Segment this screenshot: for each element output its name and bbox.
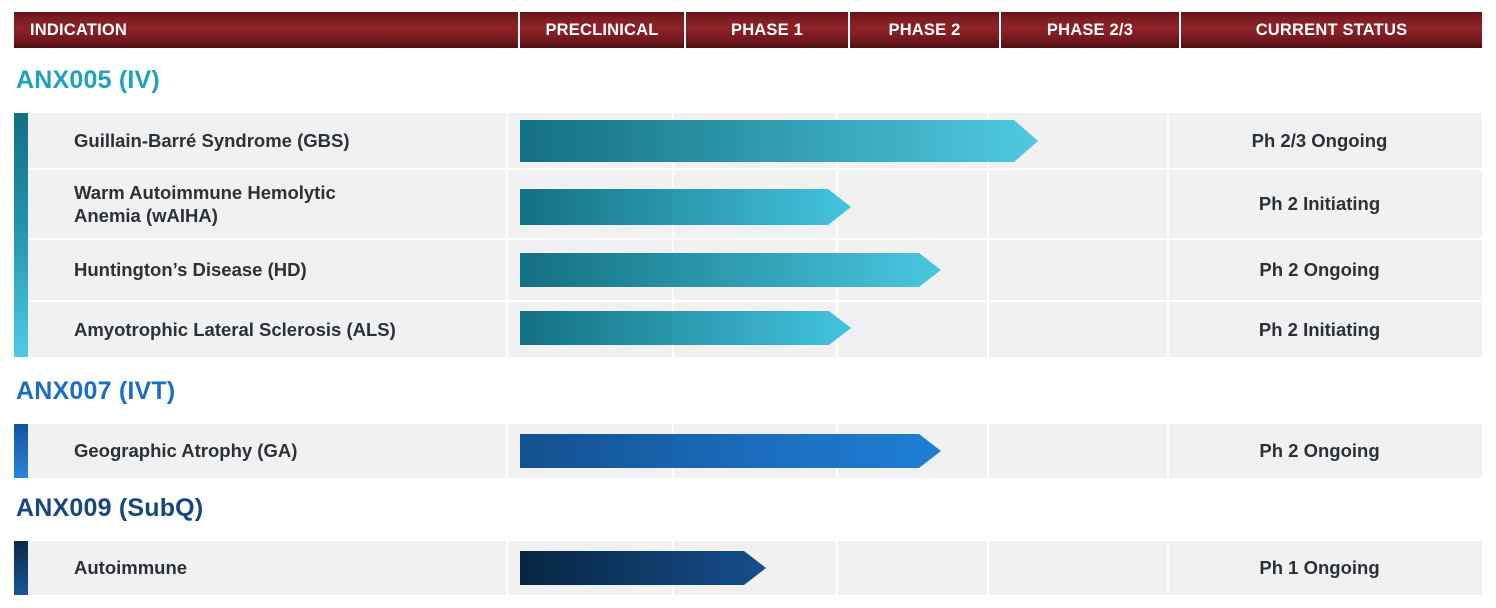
column-header-preclinical: PRECLINICAL	[520, 12, 686, 48]
indication-text: Amyotrophic Lateral Sclerosis (ALS)	[74, 318, 396, 341]
column-divider-phase-2-3	[987, 424, 989, 478]
group-spine-anx007	[14, 424, 28, 478]
indication-text-line-1: Warm Autoimmune Hemolytic	[74, 181, 336, 204]
indication-label-ga: Geographic Atrophy (GA)	[74, 424, 514, 478]
progress-arrow-gbs	[520, 120, 1038, 162]
status-autoimmune: Ph 1 Ongoing	[1169, 541, 1470, 595]
group-title-anx007: ANX007 (IVT)	[16, 377, 175, 406]
pipeline-chart: INDICATION PRECLINICAL PHASE 1 PHASE 2 P…	[0, 0, 1496, 608]
status-waiha: Ph 2 Initiating	[1169, 170, 1470, 238]
indication-text: Geographic Atrophy (GA)	[74, 439, 297, 462]
column-header-phase-2-label: PHASE 2	[888, 21, 960, 40]
status-text: Ph 2 Initiating	[1259, 193, 1380, 215]
status-text: Ph 1 Ongoing	[1259, 557, 1379, 579]
status-als: Ph 2 Initiating	[1169, 302, 1470, 357]
indication-text-line-2: Anemia (wAIHA)	[74, 204, 218, 227]
indication-label-autoimmune: Autoimmune	[74, 541, 514, 595]
group-title-anx005-label: ANX005 (IV)	[16, 66, 160, 94]
column-divider-phase-2-3	[987, 541, 989, 595]
indication-text: Guillain-Barré Syndrome (GBS)	[74, 129, 350, 152]
indication-text: Huntington’s Disease (HD)	[74, 258, 307, 281]
progress-arrow-ga	[520, 434, 941, 468]
column-header-phase-2-3: PHASE 2/3	[1001, 12, 1181, 48]
column-header-phase-2-3-label: PHASE 2/3	[1047, 21, 1133, 40]
column-divider-phase-2	[836, 541, 838, 595]
column-header-indication-label: INDICATION	[30, 21, 127, 40]
column-header-current-status-label: CURRENT STATUS	[1256, 21, 1408, 40]
indication-label-hd: Huntington’s Disease (HD)	[74, 240, 514, 300]
column-header-current-status: CURRENT STATUS	[1181, 12, 1482, 48]
indication-label-gbs: Guillain-Barré Syndrome (GBS)	[74, 113, 514, 168]
progress-arrow-autoimmune	[520, 551, 766, 585]
progress-arrow-waiha	[520, 189, 851, 225]
progress-arrow-als	[520, 311, 851, 345]
status-hd: Ph 2 Ongoing	[1169, 240, 1470, 300]
indication-text: Autoimmune	[74, 556, 187, 579]
column-header-indication: INDICATION	[14, 12, 520, 48]
column-header-preclinical-label: PRECLINICAL	[545, 21, 658, 40]
status-text: Ph 2 Initiating	[1259, 319, 1380, 341]
column-header-phase-1-label: PHASE 1	[731, 21, 803, 40]
group-spine-anx009	[14, 541, 28, 595]
status-gbs: Ph 2/3 Ongoing	[1169, 113, 1470, 168]
status-text: Ph 2 Ongoing	[1259, 440, 1379, 462]
progress-arrow-hd	[520, 253, 941, 287]
status-text: Ph 2/3 Ongoing	[1252, 130, 1388, 152]
group-title-anx009: ANX009 (SubQ)	[16, 494, 203, 523]
indication-label-als: Amyotrophic Lateral Sclerosis (ALS)	[74, 302, 514, 357]
status-ga: Ph 2 Ongoing	[1169, 424, 1470, 478]
column-header-phase-1: PHASE 1	[686, 12, 850, 48]
indication-label-waiha: Warm Autoimmune Hemolytic Anemia (wAIHA)	[74, 170, 514, 238]
table-header: INDICATION PRECLINICAL PHASE 1 PHASE 2 P…	[14, 12, 1482, 48]
group-title-anx007-label: ANX007 (IVT)	[16, 377, 175, 405]
group-title-anx005: ANX005 (IV)	[16, 66, 160, 95]
group-spine-anx005	[14, 113, 28, 357]
status-text: Ph 2 Ongoing	[1259, 259, 1379, 281]
group-title-anx009-label: ANX009 (SubQ)	[16, 494, 203, 522]
column-header-phase-2: PHASE 2	[850, 12, 1001, 48]
